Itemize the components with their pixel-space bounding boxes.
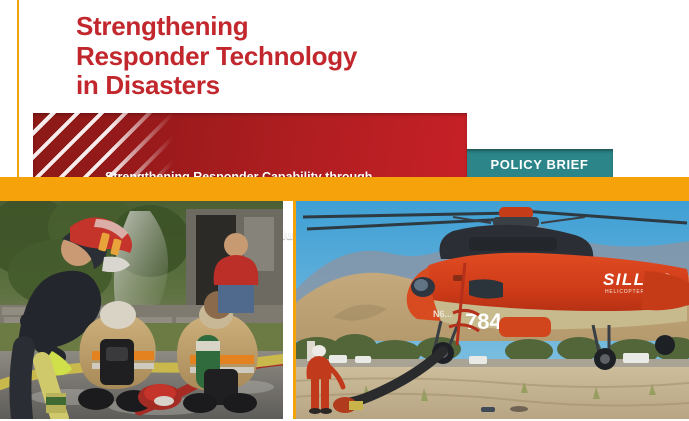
page-title: Strengthening Responder Technology in Di…	[76, 12, 496, 101]
orange-divider-band	[0, 177, 689, 201]
subtitle-banner: Strengthening Responder Capability throu…	[33, 113, 467, 180]
svg-text:N6...: N6...	[433, 309, 452, 319]
firefighters-with-hose-photo	[0, 201, 283, 419]
photo-divider-orange-strip	[293, 201, 296, 419]
svg-text:HELICOPTERS: HELICOPTERS	[605, 289, 649, 295]
page-title-line-3: in Disasters	[76, 71, 496, 101]
left-orange-rule	[17, 0, 19, 180]
firefighting-helicopter-photo: SILLER HELICOPTERS 784 N6...	[293, 201, 689, 419]
policy-brief-tab-label: POLICY BRIEF	[491, 157, 589, 172]
page-title-line-1: Strengthening	[76, 12, 496, 42]
svg-text:784: 784	[465, 309, 502, 334]
policy-brief-tab: POLICY BRIEF	[466, 149, 613, 180]
policy-brief-cover: Strengthening Responder Technology in Di…	[0, 0, 689, 421]
page-title-line-2: Responder Technology	[76, 42, 496, 72]
